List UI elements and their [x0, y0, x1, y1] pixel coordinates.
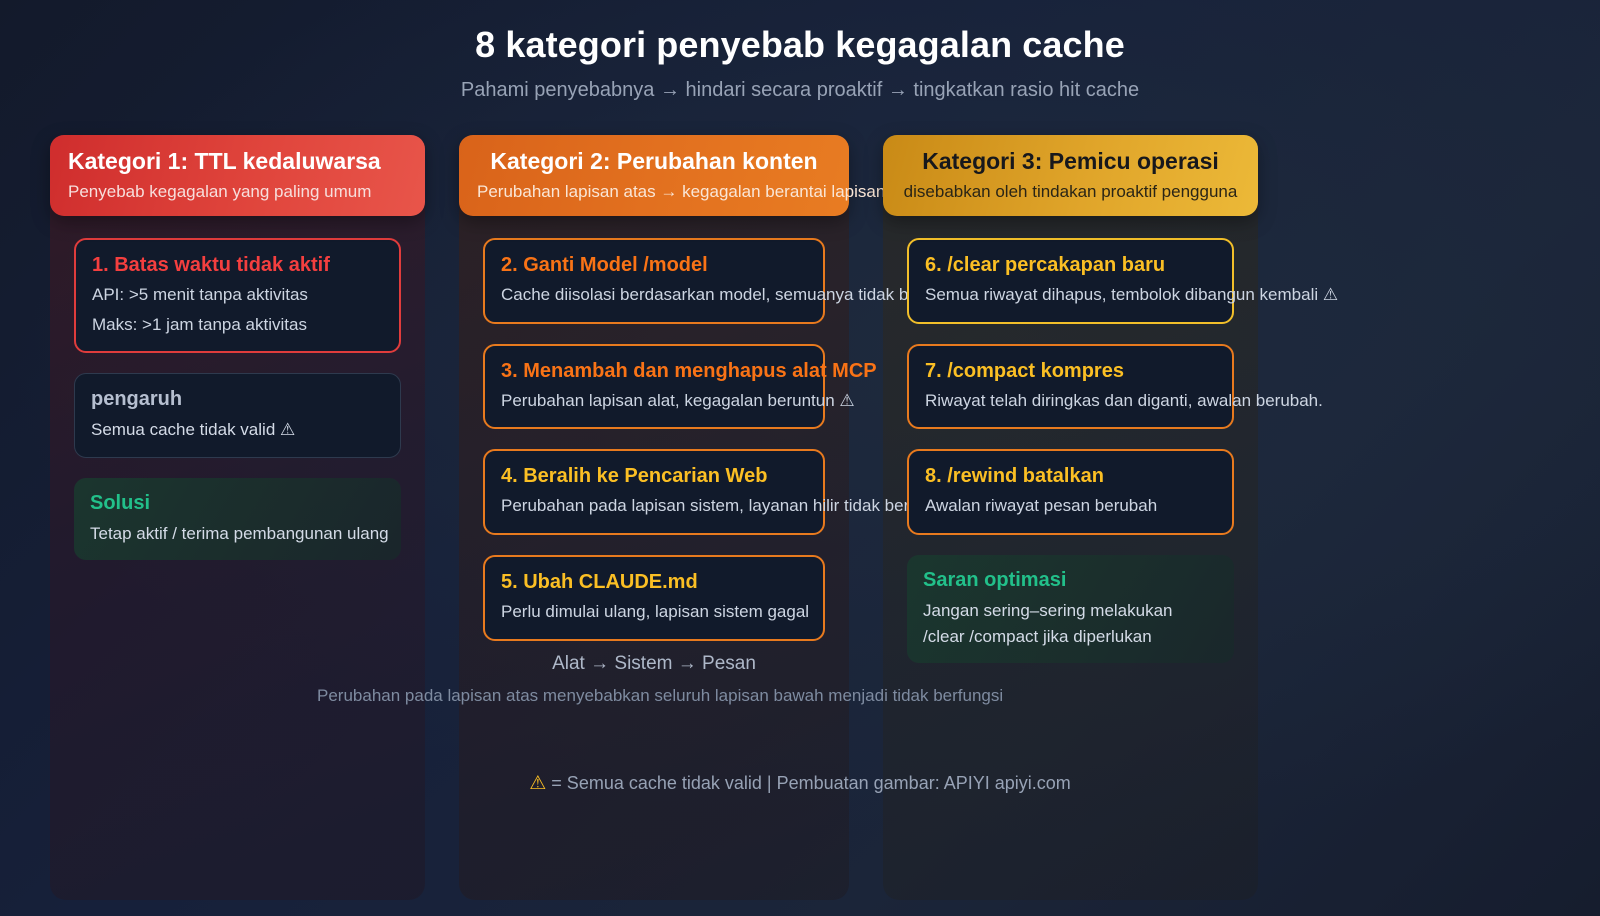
- category-columns: Kategori 1: TTL kedaluwarsa Penyebab keg…: [0, 135, 1600, 775]
- cause-card-7-title: 7. /compact kompres: [925, 358, 1216, 384]
- cause-card-2[interactable]: 2. Ganti Model /model Cache diisolasi be…: [483, 238, 825, 324]
- category-3-header: Kategori 3: Pemicu operasi disebabkan ol…: [883, 135, 1258, 216]
- warning-triangle-icon: ⚠: [529, 773, 546, 794]
- category-3-title: Kategori 3: Pemicu operasi: [901, 147, 1240, 176]
- cause-card-2-title: 2. Ganti Model /model: [501, 252, 807, 278]
- category-1-subtitle: Penyebab kegagalan yang paling umum: [68, 182, 407, 202]
- cause-card-3-line-1: Perubahan lapisan alat, kegagalan berunt…: [501, 389, 807, 414]
- impact-card: pengaruh Semua cache tidak valid ⚠: [74, 373, 401, 458]
- cause-card-1[interactable]: 1. Batas waktu tidak aktif API: >5 menit…: [74, 238, 401, 353]
- cause-card-3[interactable]: 3. Menambah dan menghapus alat MCP Perub…: [483, 344, 825, 430]
- category-1-title: Kategori 1: TTL kedaluwarsa: [68, 147, 407, 176]
- layer-flow-note: Alat → Sistem → Pesan Perubahan pada lap…: [459, 651, 849, 706]
- category-3-body: 6. /clear percakapan baru Semua riwayat …: [883, 216, 1258, 663]
- page-header: 8 kategori penyebab kegagalan cache Paha…: [0, 0, 1600, 102]
- impact-card-line: Semua cache tidak valid ⚠: [91, 417, 384, 443]
- cause-card-4-title: 4. Beralih ke Pencarian Web: [501, 463, 807, 489]
- category-2-body: 2. Ganti Model /model Cache diisolasi be…: [459, 216, 849, 641]
- page-footer: ⚠ = Semua cache tidak valid | Pembuatan …: [0, 772, 1600, 795]
- category-1-header: Kategori 1: TTL kedaluwarsa Penyebab keg…: [50, 135, 425, 216]
- cause-card-3-title: 3. Menambah dan menghapus alat MCP: [501, 358, 807, 384]
- optimization-card: Saran optimasi Jangan sering–sering mela…: [907, 555, 1234, 663]
- cause-card-2-line-1: Cache diisolasi berdasarkan model, semua…: [501, 283, 807, 308]
- cause-card-7-line-1: Riwayat telah diringkas dan diganti, awa…: [925, 389, 1216, 414]
- cause-card-8-line-1: Awalan riwayat pesan berubah: [925, 494, 1216, 519]
- cause-card-6[interactable]: 6. /clear percakapan baru Semua riwayat …: [907, 238, 1234, 324]
- category-2-header: Kategori 2: Perubahan konten Perubahan l…: [459, 135, 849, 216]
- footer-text: = Semua cache tidak valid | Pembuatan ga…: [551, 773, 1070, 793]
- cause-card-7[interactable]: 7. /compact kompres Riwayat telah diring…: [907, 344, 1234, 430]
- solution-card-title: Solusi: [90, 490, 385, 516]
- layer-flow-description: Perubahan pada lapisan atas menyebabkan …: [317, 686, 849, 706]
- cause-card-4[interactable]: 4. Beralih ke Pencarian Web Perubahan pa…: [483, 449, 825, 535]
- cause-card-8-title: 8. /rewind batalkan: [925, 463, 1216, 489]
- solution-card: Solusi Tetap aktif / terima pembangunan …: [74, 478, 401, 561]
- category-column-2: Kategori 2: Perubahan konten Perubahan l…: [459, 135, 849, 661]
- cause-card-1-line-2: Maks: >1 jam tanpa aktivitas: [92, 313, 383, 338]
- cause-card-6-line-1: Semua riwayat dihapus, tembolok dibangun…: [925, 283, 1216, 308]
- impact-card-title: pengaruh: [91, 386, 384, 412]
- optimization-card-title: Saran optimasi: [923, 567, 1218, 593]
- category-1-body: 1. Batas waktu tidak aktif API: >5 menit…: [50, 216, 425, 560]
- cause-card-5[interactable]: 5. Ubah CLAUDE.md Perlu dimulai ulang, l…: [483, 555, 825, 641]
- cause-card-4-line-1: Perubahan pada lapisan sistem, layanan h…: [501, 494, 807, 519]
- cause-card-5-line-1: Perlu dimulai ulang, lapisan sistem gaga…: [501, 600, 807, 625]
- category-column-3: Kategori 3: Pemicu operasi disebabkan ol…: [883, 135, 1258, 683]
- cause-card-1-title: 1. Batas waktu tidak aktif: [92, 252, 383, 278]
- optimization-card-line: Jangan sering–sering melakukan /clear /c…: [923, 598, 1218, 649]
- cause-card-8[interactable]: 8. /rewind batalkan Awalan riwayat pesan…: [907, 449, 1234, 535]
- category-2-title: Kategori 2: Perubahan konten: [477, 147, 831, 176]
- cause-card-1-line-1: API: >5 menit tanpa aktivitas: [92, 283, 383, 308]
- page-subtitle: Pahami penyebabnya → hindari secara proa…: [0, 79, 1600, 102]
- solution-card-line: Tetap aktif / terima pembangunan ulang: [90, 521, 385, 547]
- cause-card-6-title: 6. /clear percakapan baru: [925, 252, 1216, 278]
- cause-card-5-title: 5. Ubah CLAUDE.md: [501, 569, 807, 595]
- layer-flow-sequence: Alat → Sistem → Pesan: [459, 651, 849, 678]
- category-3-subtitle: disebabkan oleh tindakan proaktif penggu…: [901, 182, 1240, 202]
- page-title: 8 kategori penyebab kegagalan cache: [0, 24, 1600, 65]
- category-column-1: Kategori 1: TTL kedaluwarsa Penyebab keg…: [50, 135, 425, 580]
- category-2-subtitle: Perubahan lapisan atas → kegagalan beran…: [477, 182, 831, 202]
